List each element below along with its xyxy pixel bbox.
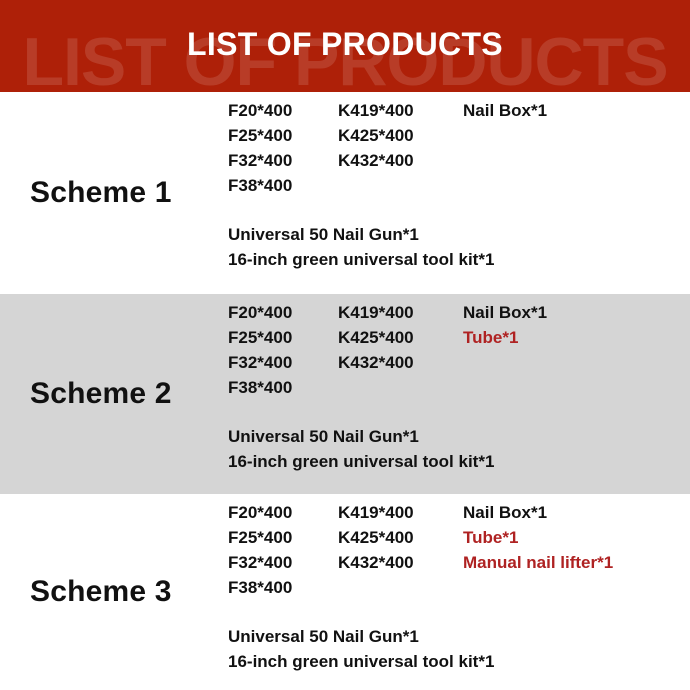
scheme-3-extra-1: 16-inch green universal tool kit*1 [228, 649, 690, 674]
scheme-2-item-r0c0: F20*400 [228, 300, 338, 325]
scheme-3-item-r1c2: Tube*1 [463, 525, 690, 550]
scheme-1-item-r0c1: K419*400 [338, 98, 463, 123]
scheme-1-extra-0: Universal 50 Nail Gun*1 [228, 222, 690, 247]
scheme-items-grid-1: F20*400 K419*400 Nail Box*1 F25*400 K425… [228, 98, 690, 198]
scheme-3-item-r0c0: F20*400 [228, 500, 338, 525]
scheme-2-item-r0c2: Nail Box*1 [463, 300, 690, 325]
scheme-3-extra-0: Universal 50 Nail Gun*1 [228, 624, 690, 649]
scheme-3-item-r1c1: K425*400 [338, 525, 463, 550]
scheme-label-cell-2: Scheme 2 [0, 294, 228, 494]
scheme-1-item-r0c0: F20*400 [228, 98, 338, 123]
scheme-2-item-r2c2 [463, 350, 690, 375]
scheme-1-item-r3c1 [338, 173, 463, 198]
scheme-3-item-r2c1: K432*400 [338, 550, 463, 575]
scheme-3-item-r3c1 [338, 575, 463, 600]
scheme-3-item-r0c2: Nail Box*1 [463, 500, 690, 525]
scheme-2-extra-0: Universal 50 Nail Gun*1 [228, 424, 690, 449]
scheme-3-item-r1c0: F25*400 [228, 525, 338, 550]
scheme-items-grid-2: F20*400 K419*400 Nail Box*1 F25*400 K425… [228, 300, 690, 400]
scheme-1-item-r1c1: K425*400 [338, 123, 463, 148]
scheme-row-3: Scheme 3 F20*400 K419*400 Nail Box*1 F25… [0, 494, 690, 690]
page-header: LIST OF PRODUCTS LIST OF PRODUCTS [0, 0, 690, 92]
product-list-page: LIST OF PRODUCTS LIST OF PRODUCTS Scheme… [0, 0, 690, 690]
scheme-2-item-r0c1: K419*400 [338, 300, 463, 325]
scheme-row-1: Scheme 1 F20*400 K419*400 Nail Box*1 F25… [0, 92, 690, 294]
scheme-3-item-r0c1: K419*400 [338, 500, 463, 525]
scheme-body-1: F20*400 K419*400 Nail Box*1 F25*400 K425… [228, 92, 690, 294]
scheme-label-2: Scheme 2 [30, 377, 172, 411]
scheme-label-3: Scheme 3 [30, 575, 172, 609]
scheme-1-item-r3c2 [463, 173, 690, 198]
scheme-1-extras: Universal 50 Nail Gun*1 16-inch green un… [228, 222, 690, 272]
scheme-body-3: F20*400 K419*400 Nail Box*1 F25*400 K425… [228, 494, 690, 690]
scheme-2-item-r3c0: F38*400 [228, 375, 338, 400]
scheme-1-item-r3c0: F38*400 [228, 173, 338, 198]
scheme-items-grid-3: F20*400 K419*400 Nail Box*1 F25*400 K425… [228, 500, 690, 600]
scheme-2-item-r3c1 [338, 375, 463, 400]
page-title: LIST OF PRODUCTS [0, 28, 690, 60]
scheme-row-2: Scheme 2 F20*400 K419*400 Nail Box*1 F25… [0, 294, 690, 494]
scheme-1-item-r1c0: F25*400 [228, 123, 338, 148]
scheme-label-cell-1: Scheme 1 [0, 92, 228, 294]
scheme-body-2: F20*400 K419*400 Nail Box*1 F25*400 K425… [228, 294, 690, 494]
scheme-2-item-r1c2: Tube*1 [463, 325, 690, 350]
scheme-label-1: Scheme 1 [30, 176, 172, 210]
scheme-2-extra-1: 16-inch green universal tool kit*1 [228, 449, 690, 474]
scheme-1-item-r2c1: K432*400 [338, 148, 463, 173]
scheme-3-item-r3c2 [463, 575, 690, 600]
scheme-2-item-r2c0: F32*400 [228, 350, 338, 375]
scheme-2-item-r1c0: F25*400 [228, 325, 338, 350]
scheme-label-cell-3: Scheme 3 [0, 494, 228, 690]
scheme-3-item-r2c2: Manual nail lifter*1 [463, 550, 690, 575]
scheme-2-item-r3c2 [463, 375, 690, 400]
scheme-1-extra-1: 16-inch green universal tool kit*1 [228, 247, 690, 272]
scheme-3-item-r2c0: F32*400 [228, 550, 338, 575]
scheme-1-item-r0c2: Nail Box*1 [463, 98, 690, 123]
scheme-1-item-r2c0: F32*400 [228, 148, 338, 173]
scheme-1-item-r1c2 [463, 123, 690, 148]
scheme-3-item-r3c0: F38*400 [228, 575, 338, 600]
scheme-1-item-r2c2 [463, 148, 690, 173]
scheme-2-extras: Universal 50 Nail Gun*1 16-inch green un… [228, 424, 690, 474]
scheme-2-item-r1c1: K425*400 [338, 325, 463, 350]
scheme-2-item-r2c1: K432*400 [338, 350, 463, 375]
scheme-3-extras: Universal 50 Nail Gun*1 16-inch green un… [228, 624, 690, 674]
